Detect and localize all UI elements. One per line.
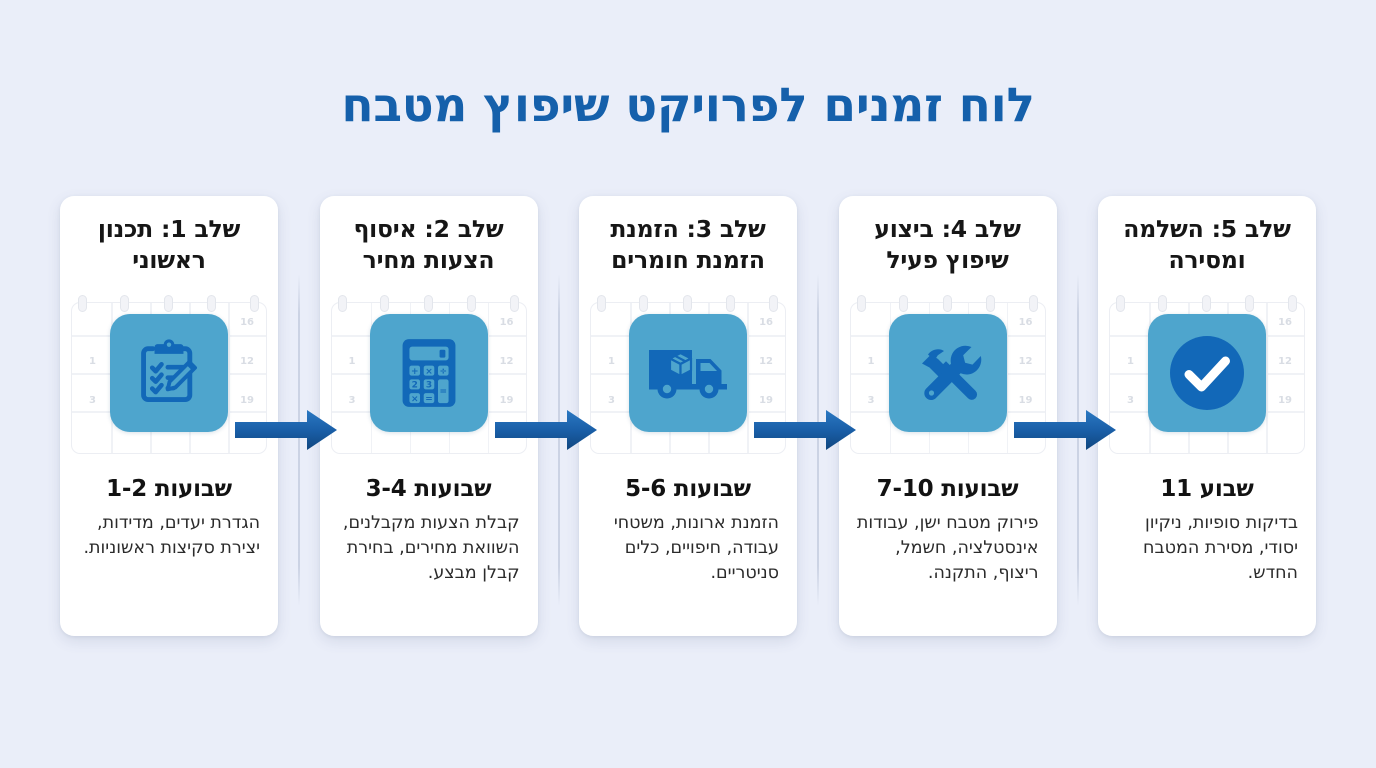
- calendar-ring: [639, 295, 648, 312]
- step-visual: 16121913: [847, 288, 1049, 458]
- calendar-date-number: 19: [240, 395, 254, 406]
- calendar-date-number: 12: [1019, 356, 1033, 367]
- step-description: הזמנת ארונות, משטחי עבודה, חיפויים, כלים…: [591, 511, 785, 586]
- calendar-ring: [683, 295, 692, 312]
- calendar-date-number: 1: [608, 356, 615, 367]
- timeline-step-card-5[interactable]: שלב 5: השלמה ומסירה16121913 שבוע 11בדיקו…: [1098, 196, 1316, 636]
- step-visual: 16121913 + × ÷ 2 3 = ×: [328, 288, 530, 458]
- calendar-gridline: [228, 303, 230, 453]
- calendar-ring: [943, 295, 952, 312]
- calendar-date-number: 3: [89, 395, 96, 406]
- calendar-ring: [207, 295, 216, 312]
- card-separator-line: [558, 274, 560, 606]
- calendar-ring: [1245, 295, 1254, 312]
- calendar-ring: [467, 295, 476, 312]
- timeline-step-card-4[interactable]: שלב 4: ביצוע שיפוץ פעיל16121913 שבועות 7…: [839, 196, 1057, 636]
- calendar-ring: [857, 295, 866, 312]
- step-heading: שלב 2: איסוף הצעות מחיר: [332, 214, 526, 276]
- calendar-gridline: [747, 303, 749, 453]
- calendar-date-number: 3: [868, 395, 875, 406]
- calendar-ring: [1288, 295, 1297, 312]
- card-separator-line: [817, 274, 819, 606]
- calendar-gridline: [488, 303, 490, 453]
- calendar-ring: [899, 295, 908, 312]
- step-heading: שלב 1: תכנון ראשוני: [72, 214, 266, 276]
- step-heading: שלב 4: ביצוע שיפוץ פעיל: [851, 214, 1045, 276]
- card-separator-line: [1077, 274, 1079, 606]
- calendar-date-number: 1: [349, 356, 356, 367]
- calendar-date-number: 3: [1127, 395, 1134, 406]
- step-description: בדיקות סופיות, ניקיון יסודי, מסירת המטבח…: [1110, 511, 1304, 586]
- svg-text:3: 3: [425, 381, 431, 391]
- page-title: לוח זמנים לפרויקט שיפוץ מטבח: [0, 78, 1376, 133]
- step-week-label: שבועות 3-4: [366, 476, 492, 502]
- svg-text:+: +: [410, 367, 418, 377]
- calendar-ring: [1202, 295, 1211, 312]
- step-visual: 16121913: [587, 288, 789, 458]
- svg-text:×: ×: [410, 394, 418, 404]
- calendar-date-number: 1: [1127, 356, 1134, 367]
- calculator-icon: + × ÷ 2 3 = × =: [370, 314, 488, 432]
- clipboard-checklist-pencil-icon: [110, 314, 228, 432]
- timeline-step-card-2[interactable]: שלב 2: איסוף הצעות מחיר16121913 + × ÷ 2 …: [320, 196, 538, 636]
- calendar-ring: [1029, 295, 1038, 312]
- calendar-ring: [597, 295, 606, 312]
- calendar-date-number: 16: [1019, 317, 1033, 328]
- calendar-date-number: 19: [759, 395, 773, 406]
- svg-text:=: =: [439, 387, 447, 397]
- calendar-date-number: 12: [500, 356, 514, 367]
- svg-text:×: ×: [425, 367, 433, 377]
- calendar-date-number: 3: [349, 395, 356, 406]
- step-description: פירוק מטבח ישן, עבודות אינסטלציה, חשמל, …: [851, 511, 1045, 586]
- step-week-label: שבועות 1-2: [106, 476, 232, 502]
- hammer-wrench-icon: [889, 314, 1007, 432]
- calendar-ring: [424, 295, 433, 312]
- calendar-date-number: 19: [500, 395, 514, 406]
- calendar-ring: [338, 295, 347, 312]
- step-description: הגדרת יעדים, מדידות, יצירת סקיצות ראשוני…: [72, 511, 266, 561]
- calendar-ring: [510, 295, 519, 312]
- calendar-ring: [986, 295, 995, 312]
- calendar-date-number: 19: [1019, 395, 1033, 406]
- calendar-ring: [164, 295, 173, 312]
- calendar-ring: [380, 295, 389, 312]
- calendar-date-number: 12: [1278, 356, 1292, 367]
- calendar-date-number: 1: [868, 356, 875, 367]
- calendar-date-number: 16: [240, 317, 254, 328]
- step-heading: שלב 5: השלמה ומסירה: [1110, 214, 1304, 276]
- calendar-gridline: [1007, 303, 1009, 453]
- step-description: קבלת הצעות מקבלנים, השוואת מחירים, בחירת…: [332, 511, 526, 586]
- timeline-container: שלב 1: תכנון ראשוני16121913 שבועו: [60, 196, 1316, 636]
- step-visual: 16121913: [1106, 288, 1308, 458]
- calendar-ring: [769, 295, 778, 312]
- calendar-ring: [78, 295, 87, 312]
- step-visual: 16121913: [68, 288, 270, 458]
- step-week-label: שבועות 7-10: [877, 476, 1019, 502]
- card-separator-line: [298, 274, 300, 606]
- svg-text:=: =: [425, 394, 433, 404]
- calendar-date-number: 19: [1278, 395, 1292, 406]
- calendar-ring: [250, 295, 259, 312]
- calendar-date-number: 12: [240, 356, 254, 367]
- calendar-ring: [1116, 295, 1125, 312]
- delivery-truck-icon: [629, 314, 747, 432]
- calendar-ring: [120, 295, 129, 312]
- timeline-step-card-1[interactable]: שלב 1: תכנון ראשוני16121913 שבועו: [60, 196, 278, 636]
- timeline-step-card-3[interactable]: שלב 3: הזמנת הזמנת חומרים16121913 שבועות…: [579, 196, 797, 636]
- calendar-date-number: 12: [759, 356, 773, 367]
- calendar-ring: [1158, 295, 1167, 312]
- calendar-gridline: [1266, 303, 1268, 453]
- calendar-date-number: 16: [1278, 317, 1292, 328]
- step-week-label: שבועות 5-6: [625, 476, 751, 502]
- check-circle-icon: [1148, 314, 1266, 432]
- calendar-date-number: 1: [89, 356, 96, 367]
- svg-text:÷: ÷: [439, 367, 447, 377]
- svg-text:2: 2: [411, 381, 417, 391]
- calendar-date-number: 16: [759, 317, 773, 328]
- calendar-ring: [726, 295, 735, 312]
- step-heading: שלב 3: הזמנת הזמנת חומרים: [591, 214, 785, 276]
- step-week-label: שבוע 11: [1160, 476, 1253, 502]
- calendar-date-number: 16: [500, 317, 514, 328]
- calendar-date-number: 3: [608, 395, 615, 406]
